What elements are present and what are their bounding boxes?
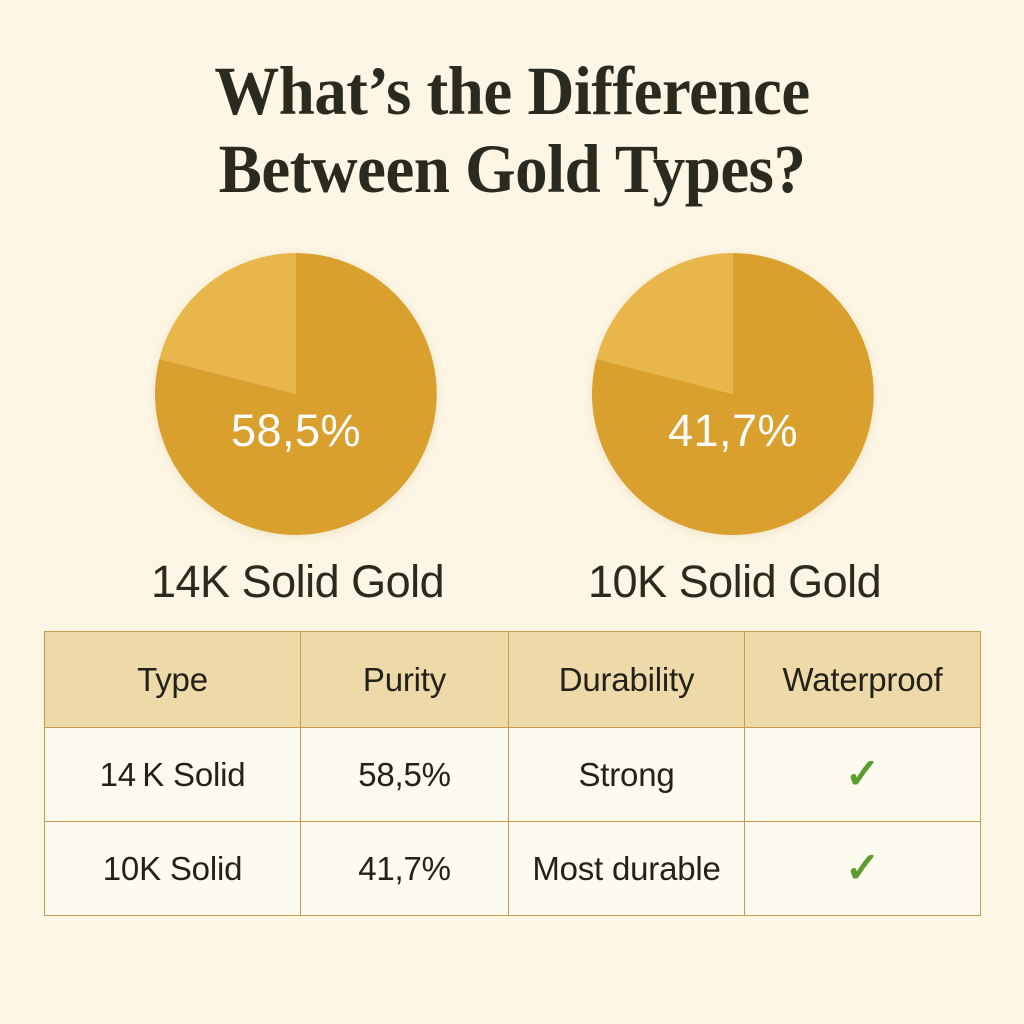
pie-chart-10k: 41,7% 10K Solid Gold [588,253,878,608]
check-icon: ✓ [845,753,880,795]
pie-chart-group: 58,5% 14K Solid Gold 41,7% 10K Solid Gol… [0,253,1024,543]
table-row: 10K Solid 41,7% Most durable ✓ [45,822,981,916]
pie-14k-caption: 14K Solid Gold [151,556,441,608]
pie-chart-14k: 58,5% 14K Solid Gold [151,253,441,608]
table-row: 14 K Solid 58,5% Strong ✓ [45,728,981,822]
column-header-purity: Purity [301,632,509,728]
title-line-1: What’s the Difference [31,52,994,130]
column-header-durability: Durability [509,632,745,728]
cell-type: 14 K Solid [45,728,301,822]
pie-10k-graphic: 41,7% [592,253,874,535]
check-icon: ✓ [845,847,880,889]
pie-10k-caption: 10K Solid Gold [588,556,878,608]
column-header-type: Type [45,632,301,728]
column-header-waterproof: Waterproof [745,632,981,728]
table-header-row: Type Purity Durability Waterproof [45,632,981,728]
cell-waterproof: ✓ [745,728,981,822]
cell-purity: 58,5% [301,728,509,822]
pie-14k-svg [155,253,437,535]
title-line-2: Between Gold Types? [31,130,994,208]
comparison-table: Type Purity Durability Waterproof 14 K S… [44,631,981,916]
pie-14k-graphic: 58,5% [155,253,437,535]
cell-type: 10K Solid [45,822,301,916]
cell-durability: Strong [509,728,745,822]
pie-10k-svg [592,253,874,535]
cell-durability: Most durable [509,822,745,916]
page-title: What’s the Difference Between Gold Types… [0,52,1024,208]
cell-waterproof: ✓ [745,822,981,916]
cell-purity: 41,7% [301,822,509,916]
